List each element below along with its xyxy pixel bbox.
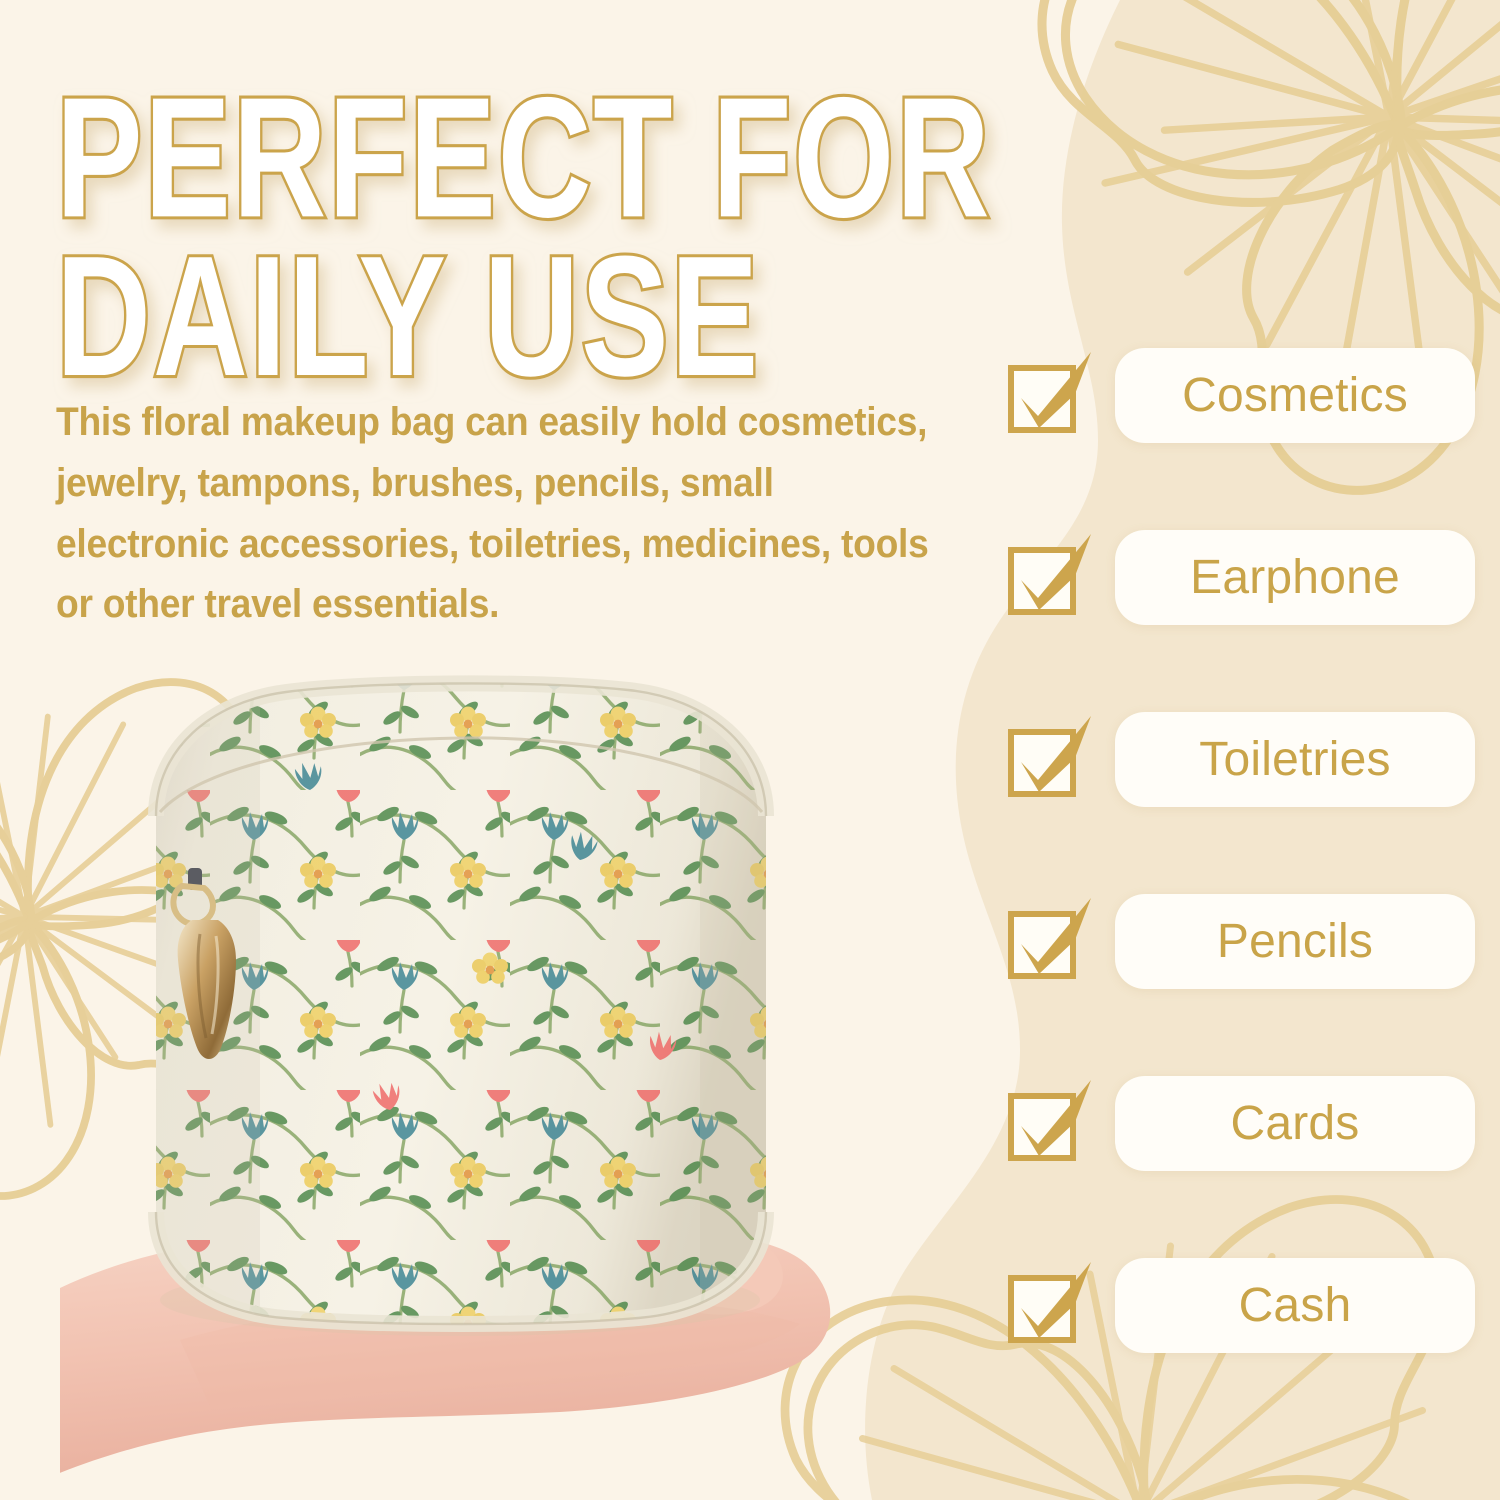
checklist-item-toiletries[interactable]: Toiletries xyxy=(1005,712,1475,807)
features-checklist: Cosmetics Earphone Toiletr xyxy=(1005,348,1475,1353)
checklist-item-pencils[interactable]: Pencils xyxy=(1005,894,1475,989)
description-text: This floral makeup bag can easily hold c… xyxy=(56,392,940,635)
checkbox-checked-icon[interactable] xyxy=(1005,1260,1097,1352)
product-photo xyxy=(60,640,940,1500)
checklist-pill[interactable]: Pencils xyxy=(1115,894,1475,989)
checklist-pill[interactable]: Toiletries xyxy=(1115,712,1475,807)
checkbox-checked-icon[interactable] xyxy=(1005,350,1097,442)
checklist-item-earphone[interactable]: Earphone xyxy=(1005,530,1475,625)
checklist-pill[interactable]: Cards xyxy=(1115,1076,1475,1171)
checkbox-checked-icon[interactable] xyxy=(1005,1078,1097,1170)
checklist-pill[interactable]: Cosmetics xyxy=(1115,348,1475,443)
checklist-label: Cards xyxy=(1230,1100,1359,1148)
checklist-label: Cosmetics xyxy=(1182,372,1408,420)
checklist-item-cards[interactable]: Cards xyxy=(1005,1076,1475,1171)
checklist-item-cash[interactable]: Cash xyxy=(1005,1258,1475,1353)
checklist-label: Pencils xyxy=(1217,918,1373,966)
checklist-label: Cash xyxy=(1239,1282,1352,1330)
infographic-canvas: PERFECT FOR DAILY USE This floral makeup… xyxy=(0,0,1500,1500)
checkbox-checked-icon[interactable] xyxy=(1005,532,1097,624)
checklist-pill[interactable]: Earphone xyxy=(1115,530,1475,625)
checklist-pill[interactable]: Cash xyxy=(1115,1258,1475,1353)
checklist-label: Earphone xyxy=(1190,554,1400,602)
checklist-item-cosmetics[interactable]: Cosmetics xyxy=(1005,348,1475,443)
bag-body xyxy=(140,670,792,1340)
checkbox-checked-icon[interactable] xyxy=(1005,896,1097,988)
checkbox-checked-icon[interactable] xyxy=(1005,714,1097,806)
checklist-label: Toiletries xyxy=(1199,736,1390,784)
